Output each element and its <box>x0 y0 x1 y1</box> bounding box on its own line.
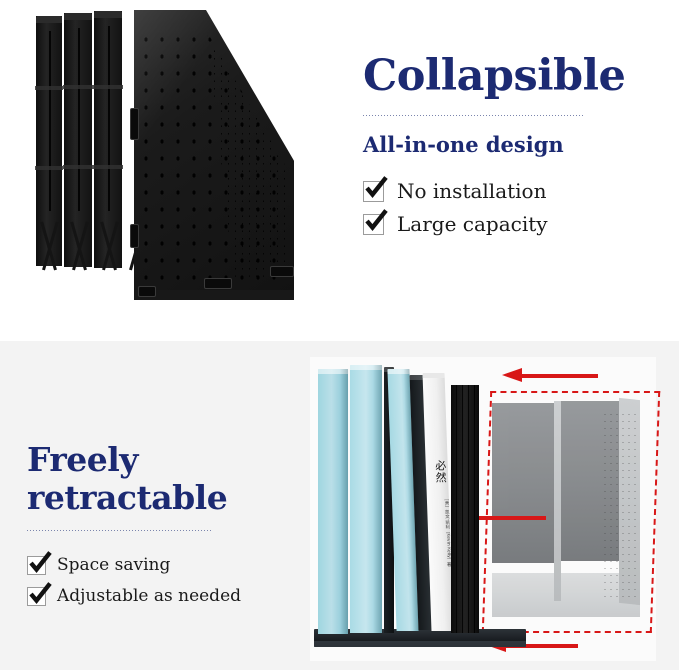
feature-label: Large capacity <box>397 213 548 235</box>
bottom-text-block: Freely retractable Space saving Adjustab… <box>27 441 337 616</box>
photo-stage: 必然 ［美］凯文·凯利（Kevin Kelly）著 <box>296 351 672 669</box>
book-teal <box>318 369 348 634</box>
hinge-tab <box>130 108 139 140</box>
panel-base <box>134 290 294 300</box>
feature-label: Adjustable as needed <box>57 585 241 607</box>
photo-stage <box>22 8 322 308</box>
feature-list-bottom: Space saving Adjustable as needed <box>27 554 337 607</box>
top-text-block: Collapsible All-in-one design No install… <box>363 52 663 246</box>
check-icon <box>363 181 384 202</box>
feature-label: Space saving <box>57 554 170 576</box>
annotation-dashed-outline <box>482 391 660 633</box>
list-item: Space saving <box>27 554 337 576</box>
product-photo-retractable: 必然 ［美］凯文·凯利（Kevin Kelly）著 <box>296 351 672 669</box>
check-icon <box>27 587 46 606</box>
bottom-panel: Freely retractable Space saving Adjustab… <box>0 341 679 670</box>
folded-divider-stack <box>451 385 479 633</box>
latch-tab <box>204 278 232 289</box>
product-infographic: Collapsible All-in-one design No install… <box>0 0 679 670</box>
list-item: No installation <box>363 180 663 202</box>
latch-tab <box>138 286 156 297</box>
subtitle-all-in-one: All-in-one design <box>363 132 663 158</box>
book-spine-subtitle: ［美］凯文·凯利（Kevin Kelly）著 <box>428 491 453 571</box>
feature-label: No installation <box>397 180 546 202</box>
page-title-collapsible: Collapsible <box>363 52 663 100</box>
feature-list-top: No installation Large capacity <box>363 180 663 235</box>
top-panel: Collapsible All-in-one design No install… <box>0 0 679 341</box>
check-icon <box>363 214 384 235</box>
divider-dotted <box>27 530 212 531</box>
page-title-retractable: Freely retractable <box>27 441 337 517</box>
check-icon <box>27 556 46 575</box>
product-photo-collapsible <box>22 8 322 308</box>
folded-feet <box>30 218 140 270</box>
divider-dotted <box>363 115 585 116</box>
book-teal <box>350 365 382 633</box>
organizer-tray-lip <box>314 641 526 647</box>
latch-tab <box>270 266 294 277</box>
list-item: Adjustable as needed <box>27 585 337 607</box>
hinge-tab <box>130 224 139 248</box>
list-item: Large capacity <box>363 213 663 235</box>
arrow-left-top <box>502 371 598 380</box>
